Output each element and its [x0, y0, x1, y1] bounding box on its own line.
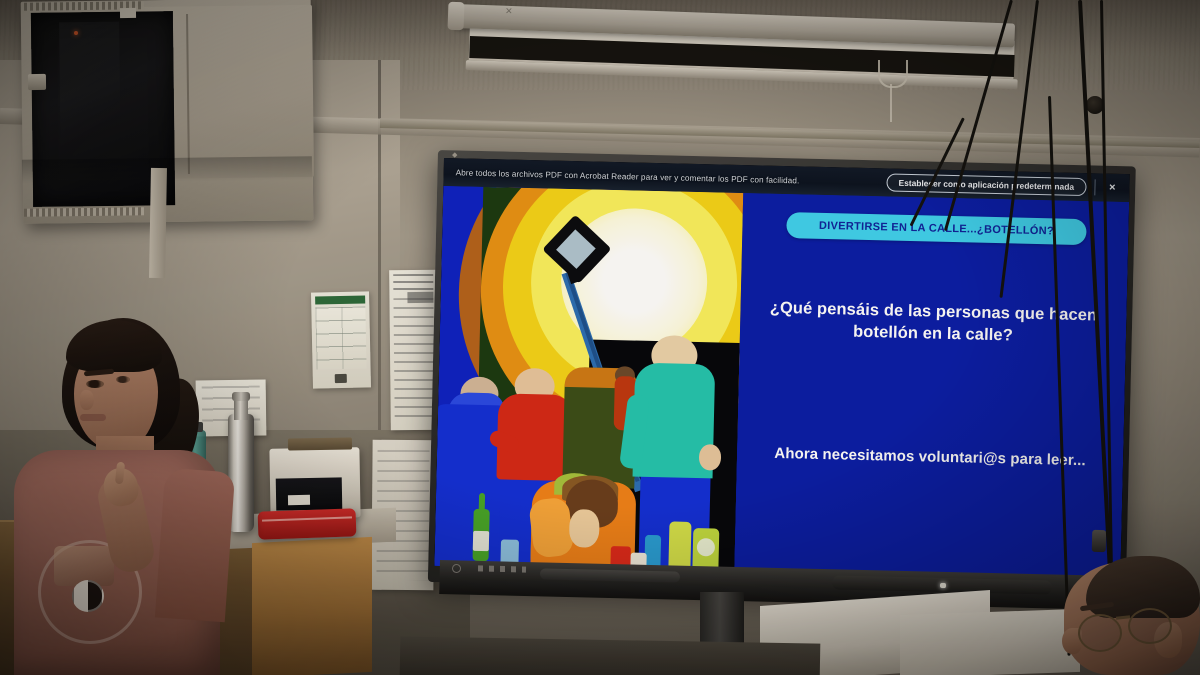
- sitting-figure-arm: [528, 497, 574, 559]
- figure-teal-hand: [699, 444, 722, 471]
- notification-message: Abre todos los archivos PDF con Acrobat …: [444, 167, 800, 184]
- bottle-green-neck: [479, 493, 485, 513]
- slide-artwork: [434, 186, 743, 573]
- notification-actions: Establecer como aplicación predeterminad…: [886, 173, 1129, 197]
- cabinet-shadow: [22, 156, 312, 184]
- slide-text-panel: DIVERTIRSE EN LA CALLE...¿BOTELLÓN? ¿Qué…: [734, 193, 1129, 582]
- wall-poster-info: [311, 291, 371, 388]
- printer-paper: [288, 495, 310, 505]
- ceiling-hook: [878, 60, 908, 88]
- projection-screen-end-cap: [448, 2, 465, 31]
- glasses-lens-left: [1078, 614, 1122, 652]
- water-bottle-neck: [234, 398, 248, 420]
- figure-left-body: [434, 404, 506, 568]
- set-default-app-button[interactable]: Establecer como aplicación predeterminad…: [886, 173, 1086, 196]
- presenter-eye-right: [116, 376, 130, 383]
- bottle-yellow: [668, 521, 691, 572]
- cabinet-support-post: [149, 168, 167, 278]
- cabinet-label: [120, 8, 136, 18]
- notification-divider: [1094, 179, 1095, 195]
- presenter-eye-left: [86, 380, 104, 388]
- display-side-port[interactable]: [1092, 530, 1107, 552]
- display-status-led: [940, 583, 946, 588]
- floor-shadow: [400, 636, 821, 675]
- bottle-green-label: [473, 531, 489, 551]
- cabinet-glass-reflection: [59, 22, 121, 173]
- screen-content: Abre todos los archivos PDF con Acrobat …: [434, 158, 1129, 582]
- cabinet-vent-bottom: [24, 207, 144, 216]
- slide-title-banner: DIVERTIRSE EN LA CALLE...¿BOTELLÓN?: [786, 212, 1087, 245]
- slide-call-to-action-text: Ahora necesitamos voluntari@s para leer.…: [757, 443, 1103, 471]
- sitting-figure-hand: [569, 509, 600, 548]
- red-bag: [258, 508, 357, 539]
- yin-yang-icon: [72, 580, 104, 612]
- presenter-nose: [80, 390, 94, 410]
- printer-lid: [288, 437, 352, 450]
- presentation-slide: DIVERTIRSE EN LA CALLE...¿BOTELLÓN? ¿Qué…: [434, 186, 1129, 582]
- water-bottle-cap: [232, 392, 250, 401]
- desk-front-panel: [252, 537, 372, 675]
- slide-title-text: DIVERTIRSE EN LA CALLE...¿BOTELLÓN?: [819, 220, 1054, 238]
- presenter-mouth: [80, 414, 106, 421]
- screenshot-scene: ✕: [0, 0, 1200, 675]
- ceiling-hook-stem: [890, 84, 892, 122]
- cabinet-status-led: [74, 31, 78, 35]
- glasses-lens-right: [1128, 608, 1172, 644]
- display-control-buttons[interactable]: [478, 565, 526, 572]
- presenter-sleeve: [155, 468, 235, 623]
- cabinet-lock[interactable]: [28, 74, 46, 90]
- display-panel: Abre todos los archivos PDF con Acrobat …: [434, 158, 1129, 582]
- podium-side: [900, 609, 1080, 675]
